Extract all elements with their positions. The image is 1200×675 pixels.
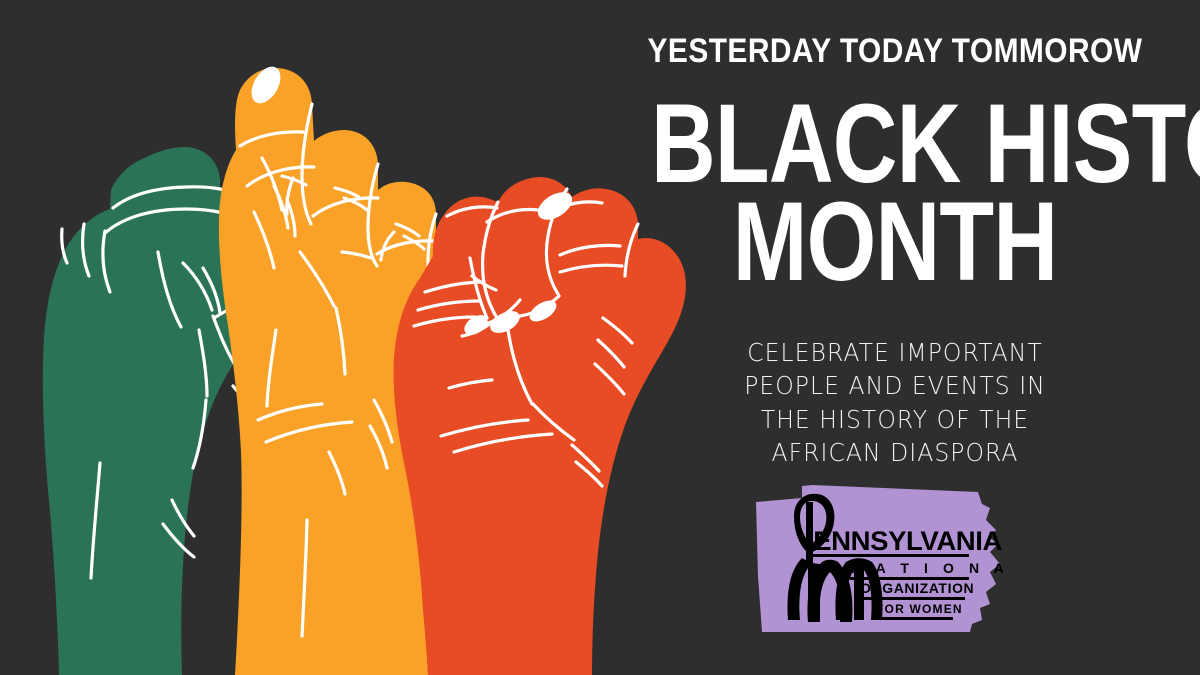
logo-text-national: N A T I O N A L bbox=[851, 560, 1006, 576]
logo-rule-1 bbox=[813, 554, 969, 557]
logo-rule-4 bbox=[875, 617, 953, 620]
eyebrow-text: YESTERDAY TODAY TOMMOROW bbox=[627, 34, 1164, 68]
page-title-line-1: BLACK HISTORY bbox=[651, 98, 1139, 190]
poster-canvas: YESTERDAY TODAY TOMMOROW BLACK HISTORY M… bbox=[0, 0, 1200, 675]
description-line-1: CELEBRATE IMPORTANT bbox=[665, 336, 1126, 369]
description-text: CELEBRATE IMPORTANT PEOPLE AND EVENTS IN… bbox=[665, 336, 1126, 469]
description-line-4: AFRICAN DIASPORA bbox=[665, 436, 1126, 469]
description-line-3: THE HISTORY OF THE bbox=[665, 403, 1126, 436]
logo-text-organization: ORGANIZATION bbox=[860, 580, 974, 596]
logo-text-pennsylvania: ENNSYLVANIA bbox=[813, 525, 1002, 556]
pennsylvania-now-logo: ENNSYLVANIA N A T I O N A L ORGANIZATION… bbox=[750, 480, 1006, 640]
logo-rule-3 bbox=[859, 597, 965, 600]
description-line-2: PEOPLE AND EVENTS IN bbox=[665, 369, 1126, 402]
text-column: YESTERDAY TODAY TOMMOROW BLACK HISTORY M… bbox=[590, 0, 1200, 675]
logo-text-for-women: FOR WOMEN bbox=[876, 602, 963, 616]
page-title-line-2: MONTH bbox=[651, 196, 1139, 288]
